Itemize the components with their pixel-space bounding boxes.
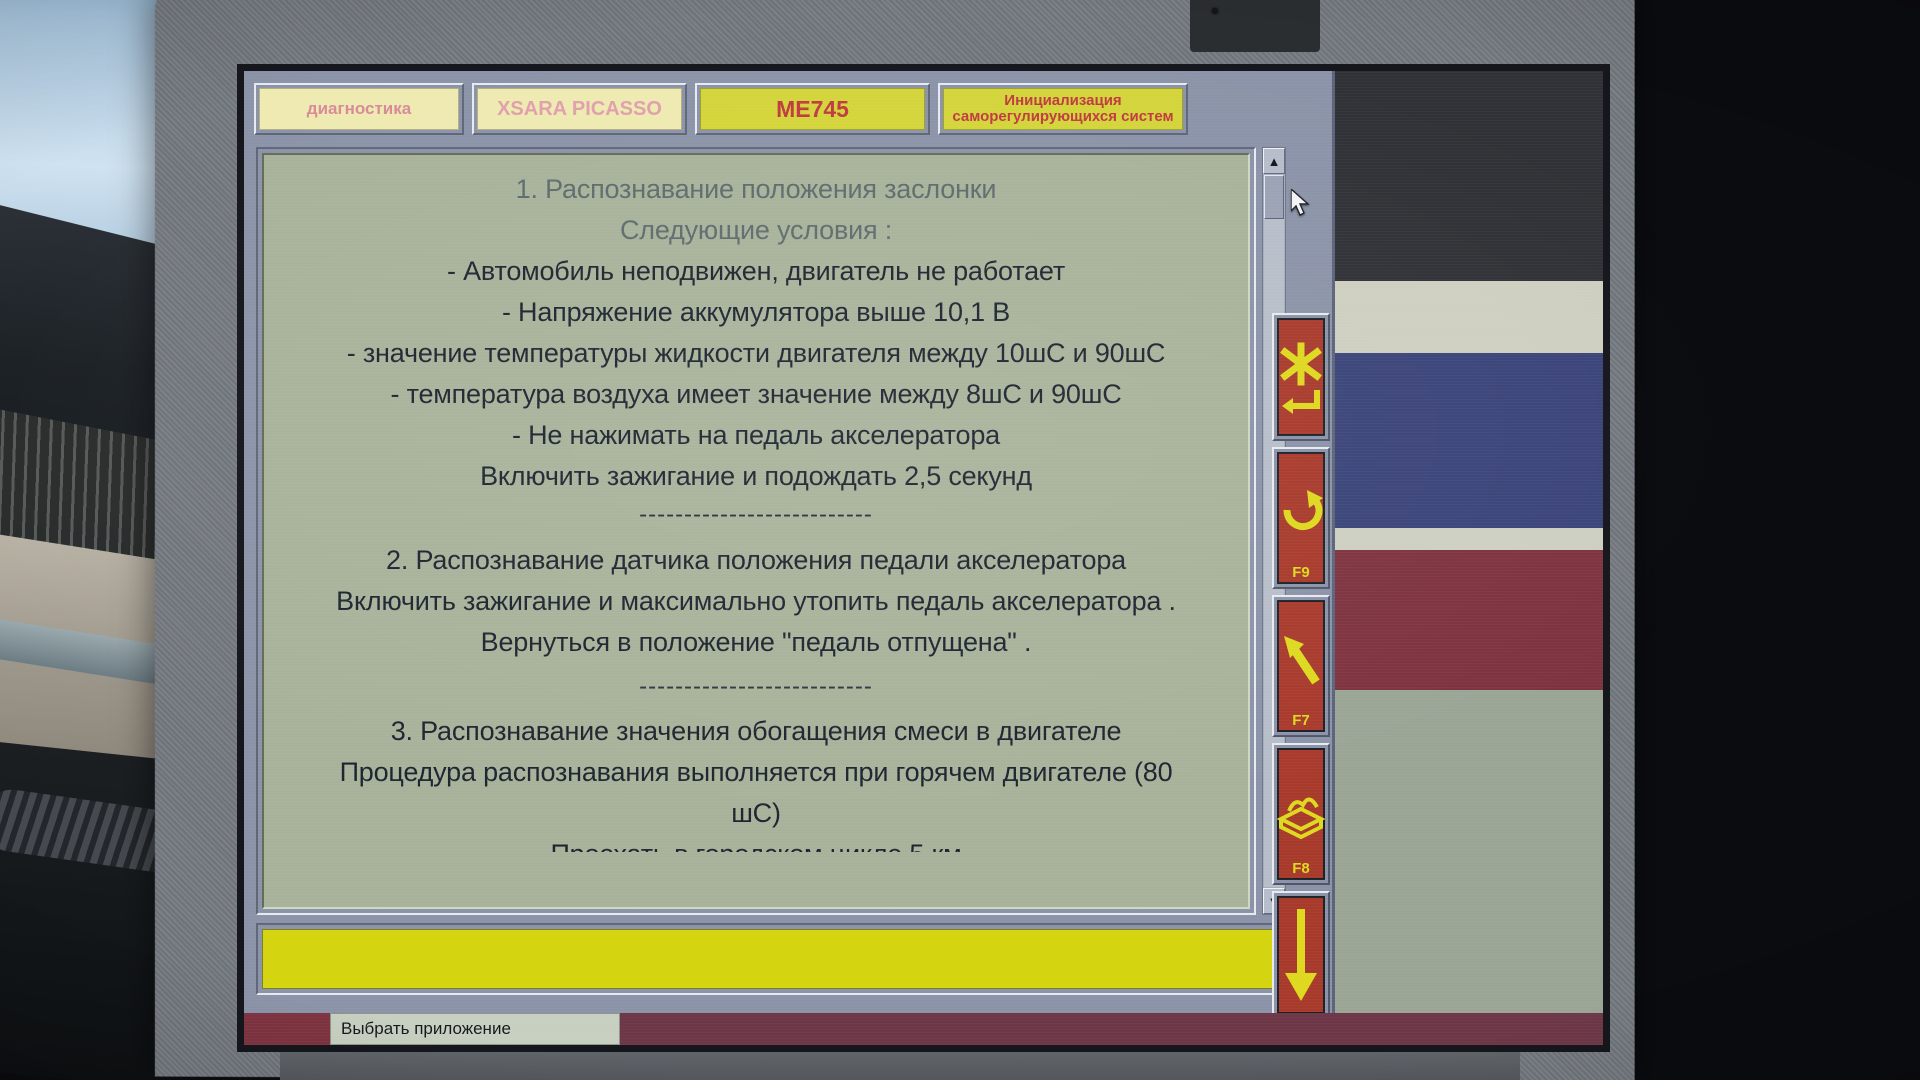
instruction-line: 3. Распознавание значения обогащения сме… bbox=[274, 711, 1238, 752]
print-f8-button-face: F8 bbox=[1277, 748, 1325, 880]
page-down-button[interactable] bbox=[1272, 891, 1330, 1019]
entry-bar-frame bbox=[256, 923, 1286, 995]
mouse-cursor-icon bbox=[1291, 189, 1311, 217]
instruction-line: 1. Распознавание положения заслонки bbox=[274, 169, 1238, 210]
arrow-down-icon bbox=[1281, 903, 1321, 1007]
tab-initialization-label: Инициализация саморегулирующихся систем bbox=[943, 88, 1183, 130]
tab-ecu-type[interactable]: ME745 bbox=[695, 83, 930, 135]
instruction-line: - значение температуры жидкости двигател… bbox=[274, 333, 1238, 374]
instruction-line: Процедура распознавания выполняется при … bbox=[274, 752, 1238, 793]
back-f7-button[interactable]: F7 bbox=[1272, 595, 1330, 737]
scrollbar-thumb[interactable] bbox=[1264, 175, 1284, 219]
start-button[interactable] bbox=[244, 1013, 330, 1045]
taskbar-item-label: Выбрать приложение bbox=[341, 1019, 511, 1039]
tab-ecu-type-label: ME745 bbox=[700, 88, 925, 130]
scroll-up-button[interactable]: ▲ bbox=[1263, 148, 1285, 174]
instruction-panel[interactable]: 1. Распознавание положения заслонкиСледу… bbox=[262, 153, 1250, 909]
instruction-line: - Автомобиль неподвижен, двигатель не ра… bbox=[274, 251, 1238, 292]
instruction-line: Включить зажигание и подождать 2,5 секун… bbox=[274, 456, 1238, 497]
validate-button-face bbox=[1277, 318, 1325, 436]
instruction-line: Вернуться в положение "педаль отпущена" … bbox=[274, 622, 1238, 663]
print-stack-icon bbox=[1277, 781, 1325, 847]
chevron-up-icon: ▲ bbox=[1268, 155, 1281, 168]
tab-initialization[interactable]: Инициализация саморегулирующихся систем bbox=[938, 83, 1188, 135]
undo-f9-key-label: F9 bbox=[1279, 565, 1323, 580]
instruction-panel-frame: 1. Распознавание положения заслонкиСледу… bbox=[256, 147, 1256, 915]
undo-f9-button[interactable]: F9 bbox=[1272, 447, 1330, 589]
taskbar: Выбрать приложение bbox=[244, 1013, 1603, 1045]
instruction-line: Следующие условия : bbox=[274, 210, 1238, 251]
laptop-camera-housing bbox=[1190, 0, 1320, 52]
page-down-button-face bbox=[1277, 896, 1325, 1014]
back-f7-button-face: F7 bbox=[1277, 600, 1325, 732]
instruction-line: -------------------------- bbox=[274, 669, 1238, 705]
instruction-line: - Не нажимать на педаль акселератора bbox=[274, 415, 1238, 456]
print-f8-key-label: F8 bbox=[1279, 861, 1323, 876]
diagonal-arrow-up-left-icon bbox=[1278, 630, 1324, 702]
asterisk-enter-icon bbox=[1279, 338, 1323, 416]
back-f7-key-label: F7 bbox=[1279, 713, 1323, 728]
instruction-line: 2. Распознавание датчика положения педал… bbox=[274, 540, 1238, 581]
instruction-line: - Напряжение аккумулятора выше 10,1 В bbox=[274, 292, 1238, 333]
instruction-line: Включить зажигание и максимально утопить… bbox=[274, 581, 1238, 622]
entry-bar[interactable] bbox=[262, 929, 1280, 989]
tab-diagnostics[interactable]: диагностика bbox=[254, 83, 464, 135]
undo-arrow-icon bbox=[1279, 482, 1323, 554]
laptop-screen: диагностика XSARA PICASSO ME745 Инициали… bbox=[237, 64, 1610, 1052]
instruction-text: 1. Распознавание положения заслонкиСледу… bbox=[274, 169, 1238, 852]
instruction-line: -------------------------- bbox=[274, 497, 1238, 533]
instruction-line: - температура воздуха имеет значение меж… bbox=[274, 374, 1238, 415]
tab-vehicle-model[interactable]: XSARA PICASSO bbox=[472, 83, 687, 135]
validate-button[interactable] bbox=[1272, 313, 1330, 441]
tab-bar: диагностика XSARA PICASSO ME745 Инициали… bbox=[254, 83, 1320, 135]
diagnostic-application-window: диагностика XSARA PICASSO ME745 Инициали… bbox=[244, 71, 1335, 1052]
webcam-icon bbox=[1212, 8, 1218, 14]
instruction-line: шС) bbox=[274, 793, 1238, 834]
photograph-of-laptop-screen: диагностика XSARA PICASSO ME745 Инициали… bbox=[0, 0, 1920, 1080]
tab-vehicle-model-label: XSARA PICASSO bbox=[477, 88, 682, 130]
tab-diagnostics-label: диагностика bbox=[259, 88, 459, 130]
undo-f9-button-face: F9 bbox=[1277, 452, 1325, 584]
taskbar-item-select-application[interactable]: Выбрать приложение bbox=[330, 1013, 620, 1045]
print-f8-button[interactable]: F8 bbox=[1272, 743, 1330, 885]
instruction-line: Проехать в городском цикле 5 км bbox=[274, 834, 1238, 852]
function-button-bar: F9 F7 bbox=[1272, 313, 1330, 1019]
